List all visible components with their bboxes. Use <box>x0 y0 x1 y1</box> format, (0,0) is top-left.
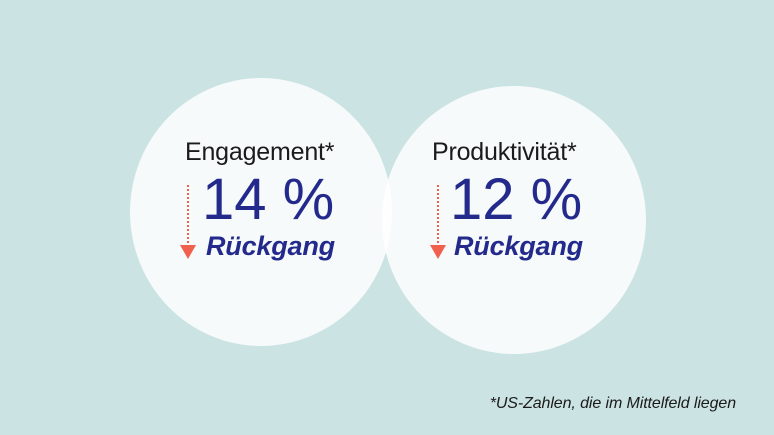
arrow-head <box>180 245 196 259</box>
arrow-shaft <box>437 185 439 247</box>
stat-caption-produktivitaet: Rückgang <box>454 233 583 260</box>
stat-title-produktivitaet: Produktivität* <box>392 140 642 165</box>
arrow-down-icon <box>180 185 196 265</box>
venn-infographic: Engagement* 14 % Rückgang Produktivität*… <box>0 0 774 435</box>
arrow-head <box>430 245 446 259</box>
stat-caption-engagement: Rückgang <box>206 233 335 260</box>
stat-panel-produktivitaet: Produktivität* 12 % Rückgang <box>392 140 642 281</box>
stat-title-engagement: Engagement* <box>140 140 390 165</box>
stat-panel-engagement: Engagement* 14 % Rückgang <box>140 140 390 281</box>
arrow-shaft <box>187 185 189 247</box>
arrow-down-icon <box>430 185 446 265</box>
stat-value-engagement: 14 % <box>202 171 334 229</box>
footnote-text: *US-Zahlen, die im Mittelfeld liegen <box>490 395 736 413</box>
stat-body-produktivitaet: 12 % Rückgang <box>392 171 642 281</box>
stat-body-engagement: 14 % Rückgang <box>140 171 390 281</box>
stat-value-produktivitaet: 12 % <box>450 171 582 229</box>
